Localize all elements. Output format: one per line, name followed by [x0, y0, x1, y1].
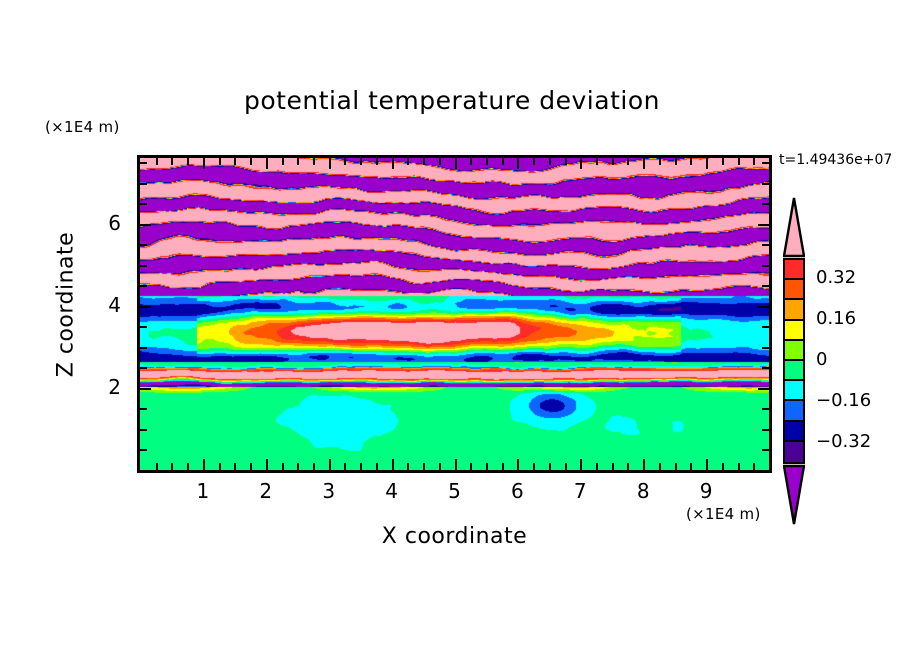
y-tick-right: [762, 408, 769, 410]
y-tick-right: [762, 244, 769, 246]
x-tick-top: [533, 158, 535, 165]
y-tick-label: 2: [95, 375, 121, 399]
colorbar-band-2: [785, 300, 803, 320]
timestamp-annotation: t=1.49436e+07: [779, 152, 892, 168]
y-tick-right: [762, 265, 769, 267]
x-tick-bottom: [156, 463, 158, 470]
y-tick-left: [140, 367, 147, 369]
colorbar-tick-label: −0.32: [816, 431, 871, 452]
x-tick-bottom: [549, 463, 551, 470]
y-tick-right: [762, 203, 769, 205]
y-tick-left: [140, 265, 147, 267]
x-tick-top: [596, 158, 598, 165]
x-tick-label: 1: [183, 479, 223, 503]
x-tick-top: [392, 158, 394, 169]
x-tick-bottom: [313, 463, 315, 470]
y-tick-right: [758, 388, 769, 390]
x-tick-bottom: [360, 463, 362, 470]
x-tick-label: 7: [560, 479, 600, 503]
x-tick-label: 2: [246, 479, 286, 503]
x-tick-bottom: [344, 463, 346, 470]
colorbar-over-arrow: [783, 196, 805, 258]
x-axis-unit-label: (×1E4 m): [686, 505, 761, 523]
colorbar-band-6: [785, 381, 803, 401]
colorbar-band-3: [785, 321, 803, 341]
y-tick-left: [140, 183, 147, 185]
x-tick-top: [612, 158, 614, 165]
y-tick-right: [762, 449, 769, 451]
x-tick-top: [282, 158, 284, 165]
y-tick-right: [762, 162, 769, 164]
colorbar-band-4: [785, 341, 803, 361]
y-tick-right: [762, 347, 769, 349]
x-tick-bottom: [171, 463, 173, 470]
x-tick-bottom: [297, 463, 299, 470]
x-tick-top: [360, 158, 362, 165]
contour-field: [140, 158, 769, 470]
colorbar-under-arrow: [783, 464, 805, 526]
x-tick-top: [706, 158, 708, 169]
x-tick-top: [738, 158, 740, 165]
colorbar-tick-label: −0.16: [816, 390, 871, 411]
x-tick-top: [313, 158, 315, 165]
y-tick-left: [140, 224, 151, 226]
x-tick-bottom: [407, 463, 409, 470]
x-tick-bottom: [643, 459, 645, 470]
y-tick-right: [762, 285, 769, 287]
y-tick-left: [140, 429, 147, 431]
x-tick-bottom: [517, 459, 519, 470]
x-tick-bottom: [234, 463, 236, 470]
y-tick-left: [140, 408, 147, 410]
x-tick-top: [722, 158, 724, 165]
x-tick-top: [439, 158, 441, 165]
x-tick-top: [219, 158, 221, 165]
x-tick-bottom: [266, 459, 268, 470]
y-tick-left: [140, 388, 151, 390]
x-tick-top: [250, 158, 252, 165]
x-tick-top: [234, 158, 236, 165]
x-tick-top: [203, 158, 205, 169]
x-tick-bottom: [580, 459, 582, 470]
y-tick-label: 6: [95, 211, 121, 235]
colorbar-bands: [783, 258, 805, 464]
y-tick-left: [140, 244, 147, 246]
x-tick-top: [171, 158, 173, 165]
y-tick-left: [140, 162, 147, 164]
x-tick-top: [690, 158, 692, 165]
y-tick-left: [140, 203, 147, 205]
x-tick-bottom: [486, 463, 488, 470]
x-tick-top: [643, 158, 645, 169]
x-tick-bottom: [376, 463, 378, 470]
y-axis-title: Z coordinate: [54, 215, 79, 395]
x-tick-top: [549, 158, 551, 165]
x-tick-bottom: [612, 463, 614, 470]
x-tick-label: 3: [309, 479, 349, 503]
x-tick-top: [675, 158, 677, 165]
colorbar[interactable]: 0.320.160−0.16−0.32: [780, 196, 810, 526]
x-tick-top: [407, 158, 409, 165]
x-tick-top: [565, 158, 567, 165]
y-tick-left: [140, 306, 151, 308]
contour-plot-area[interactable]: [137, 155, 772, 473]
colorbar-band-5: [785, 361, 803, 381]
y-tick-left: [140, 449, 147, 451]
x-tick-top: [156, 158, 158, 165]
y-tick-left: [140, 347, 147, 349]
x-tick-top: [470, 158, 472, 165]
x-tick-bottom: [423, 463, 425, 470]
x-tick-top: [329, 158, 331, 169]
x-tick-top: [627, 158, 629, 165]
x-tick-bottom: [187, 463, 189, 470]
x-tick-label: 5: [435, 479, 475, 503]
y-tick-right: [762, 429, 769, 431]
colorbar-band-0: [785, 260, 803, 280]
x-tick-bottom: [470, 463, 472, 470]
colorbar-band-8: [785, 422, 803, 442]
x-tick-bottom: [329, 459, 331, 470]
y-tick-right: [762, 183, 769, 185]
x-tick-bottom: [439, 463, 441, 470]
y-tick-right: [762, 326, 769, 328]
x-tick-label: 4: [372, 479, 412, 503]
x-tick-top: [376, 158, 378, 165]
x-tick-top: [423, 158, 425, 165]
x-tick-bottom: [533, 463, 535, 470]
x-tick-bottom: [565, 463, 567, 470]
x-tick-bottom: [392, 459, 394, 470]
x-tick-top: [502, 158, 504, 165]
x-tick-bottom: [738, 463, 740, 470]
x-tick-bottom: [502, 463, 504, 470]
colorbar-tick-label: 0.32: [816, 267, 856, 288]
x-tick-bottom: [690, 463, 692, 470]
x-tick-bottom: [627, 463, 629, 470]
x-tick-bottom: [675, 463, 677, 470]
colorbar-band-9: [785, 442, 803, 462]
x-tick-bottom: [250, 463, 252, 470]
x-tick-bottom: [219, 463, 221, 470]
x-tick-top: [486, 158, 488, 165]
colorbar-tick-label: 0.16: [816, 308, 856, 329]
x-tick-bottom: [722, 463, 724, 470]
x-tick-top: [517, 158, 519, 169]
x-tick-top: [455, 158, 457, 169]
x-axis-title: X coordinate: [137, 524, 772, 549]
y-tick-right: [758, 224, 769, 226]
x-tick-top: [753, 158, 755, 165]
x-tick-label: 8: [623, 479, 663, 503]
x-tick-bottom: [596, 463, 598, 470]
x-tick-top: [266, 158, 268, 169]
x-tick-label: 6: [497, 479, 537, 503]
colorbar-tick-label: 0: [816, 349, 827, 370]
x-tick-bottom: [282, 463, 284, 470]
x-tick-top: [659, 158, 661, 165]
colorbar-band-7: [785, 401, 803, 421]
y-tick-label: 4: [95, 293, 121, 317]
x-tick-bottom: [203, 459, 205, 470]
x-tick-top: [187, 158, 189, 165]
colorbar-band-1: [785, 280, 803, 300]
z-axis-unit-label: (×1E4 m): [45, 118, 120, 136]
y-tick-right: [762, 367, 769, 369]
x-tick-top: [344, 158, 346, 165]
x-tick-bottom: [706, 459, 708, 470]
y-tick-left: [140, 285, 147, 287]
x-tick-label: 9: [686, 479, 726, 503]
x-tick-bottom: [753, 463, 755, 470]
y-tick-left: [140, 326, 147, 328]
x-tick-bottom: [659, 463, 661, 470]
x-tick-top: [297, 158, 299, 165]
page-title: potential temperature deviation: [0, 86, 904, 115]
y-tick-right: [758, 306, 769, 308]
x-tick-top: [580, 158, 582, 169]
x-tick-bottom: [455, 459, 457, 470]
